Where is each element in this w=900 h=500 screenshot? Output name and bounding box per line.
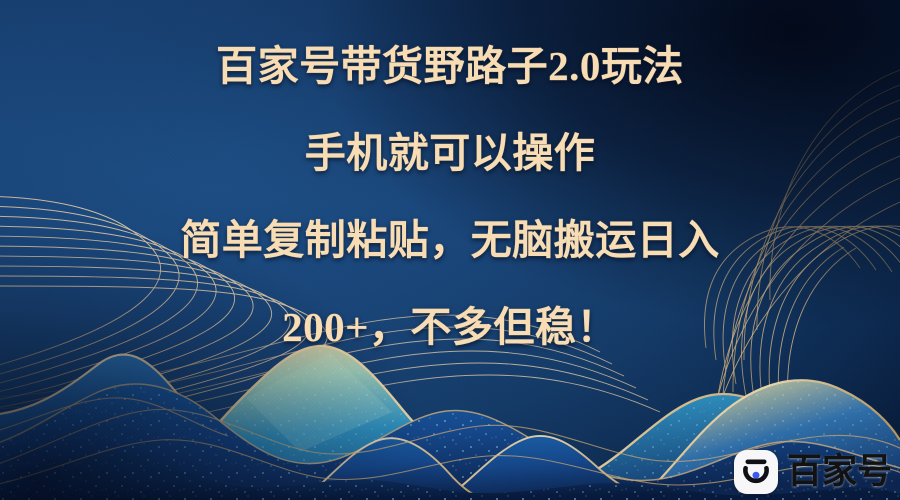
baijiahao-watermark: 百家号 (734, 450, 892, 494)
headline-line-4: 200+，不多但稳！ (14, 307, 886, 348)
baijiahao-watermark-label: 百家号 (787, 455, 892, 490)
baijiahao-logo-icon (739, 455, 773, 489)
headline-line-3: 简单复制粘贴，无脑搬运日入 (14, 220, 886, 261)
baijiahao-logo-badge (734, 450, 778, 494)
headline-line-2: 手机就可以操作 (14, 133, 886, 174)
headline-line-1: 百家号带货野路子2.0玩法 (14, 46, 886, 87)
headline-text-block: 百家号带货野路子2.0玩法 手机就可以操作 简单复制粘贴，无脑搬运日入 200+… (0, 46, 900, 348)
poster-canvas: 百家号带货野路子2.0玩法 手机就可以操作 简单复制粘贴，无脑搬运日入 200+… (0, 0, 900, 500)
